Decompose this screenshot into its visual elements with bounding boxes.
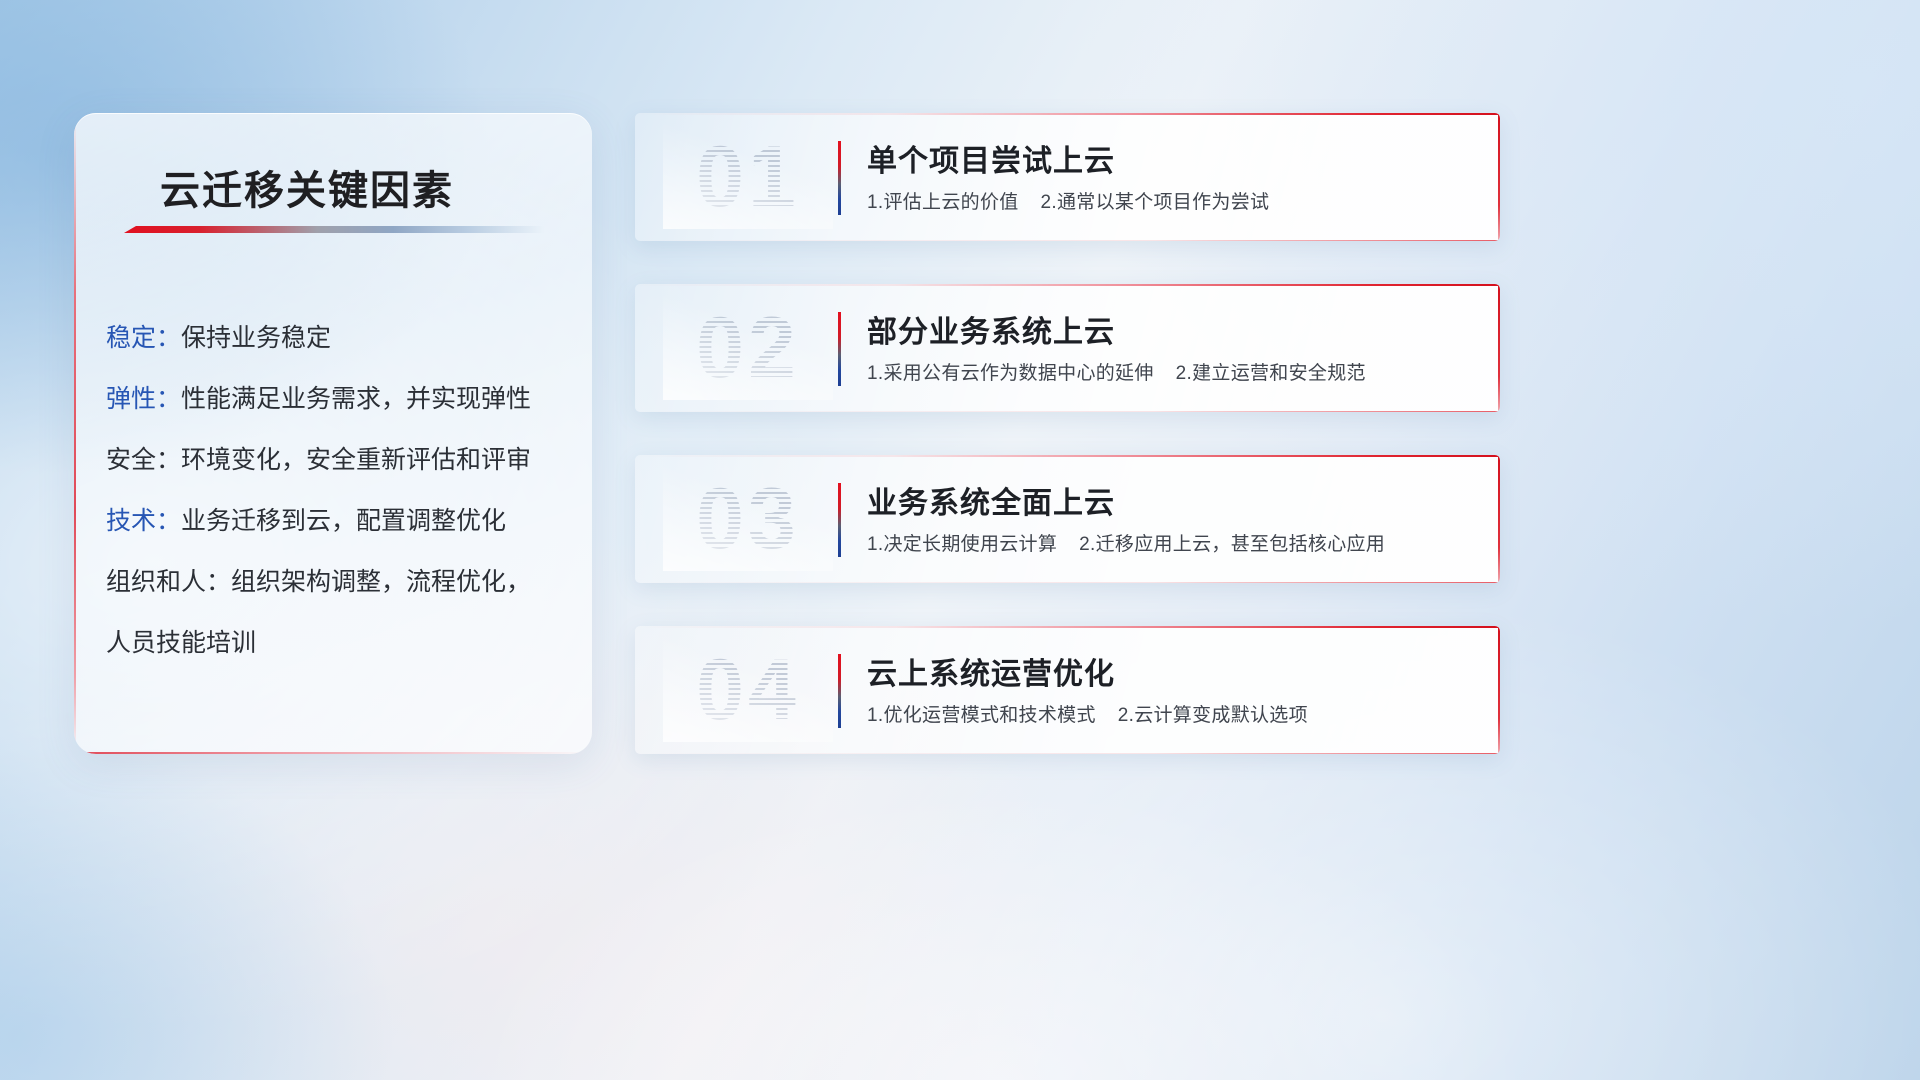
- card-right-accent: [1498, 626, 1500, 754]
- page-title: 云迁移关键因素: [160, 158, 454, 216]
- card-divider-bar: [838, 483, 841, 557]
- migration-stage-cards: 01 单个项目尝试上云 1.评估上云的价值2.通常以某个项目作为尝试 02 部分…: [635, 113, 1500, 797]
- list-item: 安全：环境变化，安全重新评估和评审: [106, 430, 570, 491]
- card-description-part-1: 1.采用公有云作为数据中心的延伸: [867, 363, 1154, 384]
- card-description-part-2: 2.建立运营和安全规范: [1176, 363, 1366, 384]
- stage-card[interactable]: 03 业务系统全面上云 1.决定长期使用云计算2.迁移应用上云，甚至包括核心应用: [635, 455, 1500, 583]
- list-item: 人员技能培训: [106, 613, 570, 674]
- card-description-part-1: 1.优化运营模式和技术模式: [867, 705, 1096, 726]
- list-item-label: 安全：: [106, 446, 181, 474]
- key-factors-list: 稳定：保持业务稳定 弹性：性能满足业务需求，并实现弹性 安全：环境变化，安全重新…: [106, 308, 570, 674]
- card-description-part-2: 2.云计算变成默认选项: [1118, 705, 1308, 726]
- card-top-accent: [635, 284, 1500, 286]
- list-item: 弹性：性能满足业务需求，并实现弹性: [106, 369, 570, 430]
- card-description: 1.决定长期使用云计算2.迁移应用上云，甚至包括核心应用: [867, 529, 1385, 556]
- list-item-value: 组织架构调整，流程优化，: [231, 568, 531, 596]
- card-number-watermark: 01: [663, 125, 833, 229]
- card-title: 云上系统运营优化: [867, 649, 1115, 693]
- list-item-value: 性能满足业务需求，并实现弹性: [181, 385, 531, 413]
- list-item-label: 弹性：: [106, 385, 181, 413]
- list-item-label: 技术：: [106, 507, 181, 535]
- card-description-part-1: 1.决定长期使用云计算: [867, 534, 1057, 555]
- list-item-label: 组织和人：: [106, 568, 231, 596]
- card-top-accent: [635, 455, 1500, 457]
- panel-left-accent-border: [74, 113, 76, 754]
- list-item: 组织和人：组织架构调整，流程优化，: [106, 552, 570, 613]
- list-item: 稳定：保持业务稳定: [106, 308, 570, 369]
- card-divider-bar: [838, 141, 841, 215]
- list-item-value: 保持业务稳定: [181, 324, 331, 352]
- card-number-watermark: 02: [663, 296, 833, 400]
- card-right-accent: [1498, 284, 1500, 412]
- list-item-value: 业务迁移到云，配置调整优化: [181, 507, 506, 535]
- key-factors-panel: 云迁移关键因素 稳定：保持业务稳定 弹性：性能满足业务需求，并实现弹性 安全：环…: [74, 113, 592, 754]
- card-bottom-accent: [635, 582, 1500, 583]
- card-description-part-1: 1.评估上云的价值: [867, 192, 1019, 213]
- card-number-watermark: 04: [663, 638, 833, 742]
- list-item-label: 稳定：: [106, 324, 181, 352]
- card-divider-bar: [838, 654, 841, 728]
- card-top-accent: [635, 113, 1500, 115]
- card-title: 单个项目尝试上云: [867, 136, 1115, 180]
- card-title: 业务系统全面上云: [867, 478, 1115, 522]
- list-item-value: 人员技能培训: [106, 629, 256, 657]
- card-right-accent: [1498, 113, 1500, 241]
- stage-card[interactable]: 04 云上系统运营优化 1.优化运营模式和技术模式2.云计算变成默认选项: [635, 626, 1500, 754]
- card-top-accent: [635, 626, 1500, 628]
- title-underline-rule: [124, 226, 544, 233]
- card-description-part-2: 2.迁移应用上云，甚至包括核心应用: [1079, 534, 1385, 555]
- card-description-part-2: 2.通常以某个项目作为尝试: [1041, 192, 1270, 213]
- card-right-accent: [1498, 455, 1500, 583]
- list-item: 技术：业务迁移到云，配置调整优化: [106, 491, 570, 552]
- card-description: 1.评估上云的价值2.通常以某个项目作为尝试: [867, 187, 1269, 214]
- panel-bottom-accent-border: [74, 752, 592, 754]
- card-bottom-accent: [635, 411, 1500, 412]
- card-description: 1.优化运营模式和技术模式2.云计算变成默认选项: [867, 700, 1308, 727]
- list-item-value: 环境变化，安全重新评估和评审: [181, 446, 531, 474]
- card-description: 1.采用公有云作为数据中心的延伸2.建立运营和安全规范: [867, 358, 1366, 385]
- stage-card[interactable]: 01 单个项目尝试上云 1.评估上云的价值2.通常以某个项目作为尝试: [635, 113, 1500, 241]
- card-bottom-accent: [635, 753, 1500, 754]
- stage-card[interactable]: 02 部分业务系统上云 1.采用公有云作为数据中心的延伸2.建立运营和安全规范: [635, 284, 1500, 412]
- card-divider-bar: [838, 312, 841, 386]
- card-bottom-accent: [635, 240, 1500, 241]
- card-title: 部分业务系统上云: [867, 307, 1115, 351]
- card-number-watermark: 03: [663, 467, 833, 571]
